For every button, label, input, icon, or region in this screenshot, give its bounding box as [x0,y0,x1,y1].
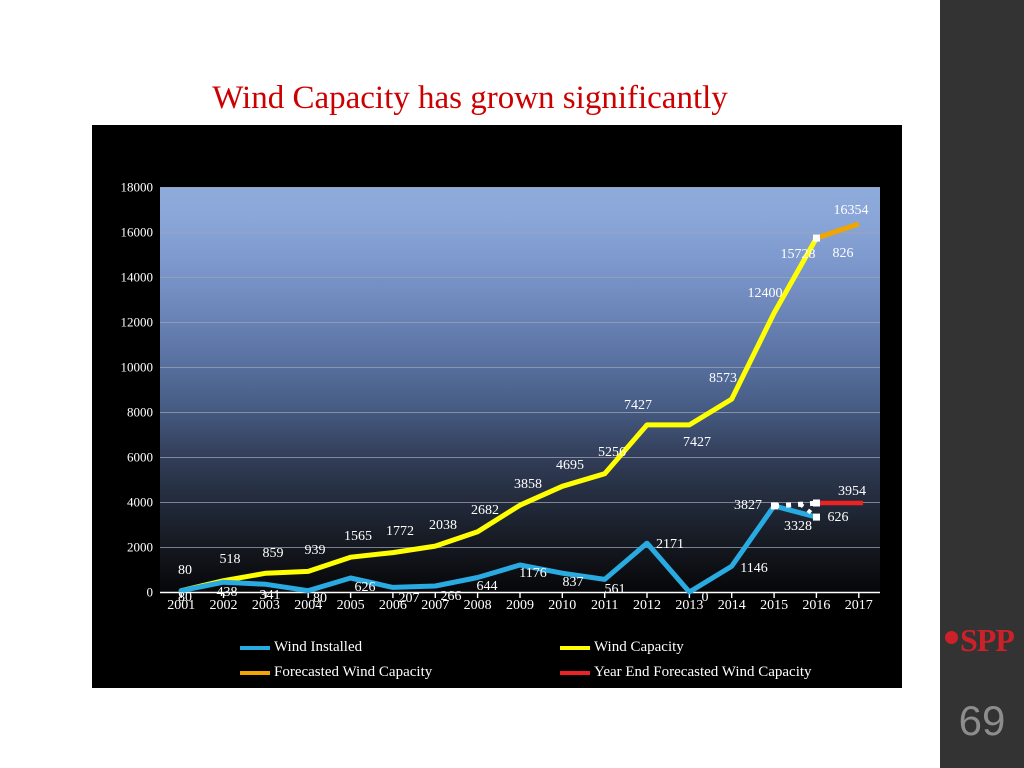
x-tick-label: 2005 [337,599,365,613]
data-label-capacity: 5256 [598,446,626,460]
marker-square-2016-capacity [813,235,820,242]
data-label-installed: 438 [217,586,238,600]
y-tick-label: 16000 [121,226,154,239]
data-label-2016-installed-forecast: 626 [828,511,849,525]
legend-item-wind-installed[interactable]: Wind Installed [240,640,560,655]
legend-item-wind-capacity[interactable]: Wind Capacity [560,640,880,655]
x-tick-label: 2015 [760,599,788,613]
legend-item-forecasted-wind-capacity[interactable]: Forecasted Wind Capacity [240,665,560,680]
marker-square-2016-forecast [813,500,820,507]
x-tick-label: 2009 [506,599,534,613]
data-label-capacity: 1565 [344,530,372,544]
y-tick-label: 4000 [127,496,153,509]
data-label-capacity: 2038 [429,519,457,533]
y-tick-label: 2000 [127,541,153,554]
y-tick-label: 8000 [127,406,153,419]
series-line-forecasted-wind-capacity [816,224,858,238]
legend-label: Forecasted Wind Capacity [274,665,432,680]
right-sidebar: SPP 69 [940,0,1024,768]
chart-svg [160,187,880,599]
data-label-capacity: 859 [263,547,284,561]
slide-canvas: Wind Capacity has grown significantly 0 … [0,0,1024,768]
x-tick-label: 2017 [845,599,873,613]
data-label-capacity: 518 [220,553,241,567]
data-label-capacity: 7427 [624,399,652,413]
chart-legend: Wind Installed Wind Capacity Forecasted … [240,635,880,685]
chart-panel: 0 2000 4000 6000 8000 10000 12000 14000 … [92,125,902,688]
data-label-capacity: 939 [305,544,326,558]
data-label-capacity: 1772 [386,525,414,539]
data-label-year-end-forecast: 3954 [838,485,866,499]
data-label-installed: 3328 [784,520,812,534]
data-label-installed: 2171 [656,538,684,552]
data-label-capacity: 80 [178,564,192,578]
data-label-installed: 80 [313,592,327,606]
x-tick-label: 2008 [464,599,492,613]
legend-swatch-icon [240,671,270,675]
data-label-capacity: 12400 [748,287,783,301]
x-tick-label: 2013 [675,599,703,613]
legend-label: Wind Capacity [594,640,684,655]
data-label-forecasted-capacity: 16354 [834,204,869,218]
data-label-installed: 626 [355,581,376,595]
data-label-capacity: 4695 [556,459,584,473]
legend-label: Wind Installed [274,640,362,655]
data-label-2016-extra: 826 [833,247,854,261]
legend-label: Year End Forecasted Wind Capacity [594,665,812,680]
spp-logo-text: SPP [960,624,1014,656]
data-label-installed: 1146 [740,562,767,576]
spp-logo: SPP [945,622,1019,658]
y-tick-label: 12000 [121,316,154,329]
spp-circle-icon [945,631,958,644]
marker-square-2016-installed [813,514,820,521]
y-tick-label: 14000 [121,271,154,284]
y-tick-label: 18000 [121,181,154,194]
data-label-installed: 561 [605,583,626,597]
data-label-installed: 80 [178,591,192,605]
data-label-installed: 207 [399,592,420,606]
data-label-installed: 837 [563,576,584,590]
data-label-installed: 341 [260,589,281,603]
data-label-capacity: 2682 [471,504,499,518]
legend-swatch-icon [240,646,270,650]
legend-row: Forecasted Wind Capacity Year End Foreca… [240,660,880,685]
series-line-wind-capacity [181,238,816,591]
data-label-capacity: 7427 [683,436,711,450]
y-tick-label: 10000 [121,361,154,374]
legend-row: Wind Installed Wind Capacity [240,635,880,660]
x-tick-label: 2014 [718,599,746,613]
legend-swatch-icon [560,646,590,650]
x-tick-label: 2011 [591,599,618,613]
data-label-installed: 644 [477,580,498,594]
x-tick-label: 2012 [633,599,661,613]
x-tick-label: 2016 [802,599,830,613]
marker-square-2015-forecast [771,502,778,509]
data-label-installed: 3827 [734,499,762,513]
data-label-capacity: 3858 [514,478,542,492]
y-tick-label: 6000 [127,451,153,464]
legend-item-year-end-forecasted-wind-capacity[interactable]: Year End Forecasted Wind Capacity [560,665,880,680]
data-label-installed: 266 [441,590,462,604]
data-label-capacity: 8573 [709,372,737,386]
data-label-installed: 0 [702,591,709,605]
page-title: Wind Capacity has grown significantly [0,78,940,118]
legend-swatch-icon [560,671,590,675]
data-label-capacity: 15728 [781,248,816,262]
page-number: 69 [940,700,1024,742]
x-tick-label: 2002 [210,599,238,613]
data-label-installed: 1176 [519,567,546,581]
x-tick-label: 2010 [548,599,576,613]
y-tick-label: 0 [147,586,154,599]
